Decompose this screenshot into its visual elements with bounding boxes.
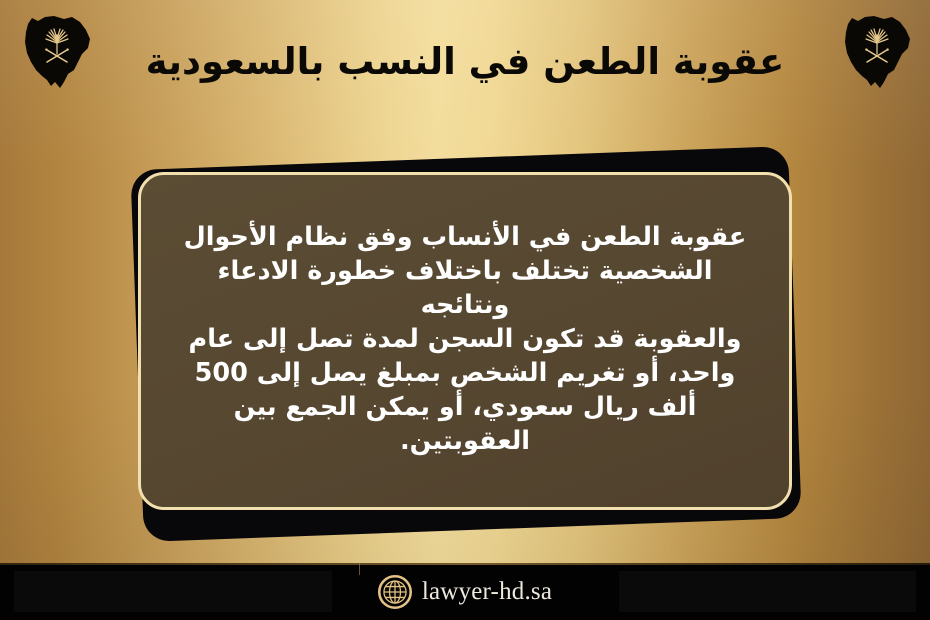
brand-watermark[interactable]: lawyer-hd.sa xyxy=(0,563,930,620)
brand-name-label: lawyer-hd.sa xyxy=(422,579,552,604)
content-card-stack: عقوبة الطعن في الأنساب وفق نظام الأحوال … xyxy=(125,150,805,535)
card-paragraph-1: عقوبة الطعن في الأنساب وفق نظام الأحوال … xyxy=(171,221,759,323)
poster-canvas: عقوبة الطعن في النسب بالسعودية عقوبة الط… xyxy=(0,0,930,620)
page-title: عقوبة الطعن في النسب بالسعودية xyxy=(0,40,930,84)
card-body: عقوبة الطعن في الأنساب وفق نظام الأحوال … xyxy=(171,221,759,458)
card-paragraph-2: والعقوبة قد تكون السجن لمدة تصل إلى عام … xyxy=(171,323,759,459)
content-card: عقوبة الطعن في الأنساب وفق نظام الأحوال … xyxy=(138,172,792,510)
globe-icon xyxy=(378,575,412,609)
poster-footer: lawyer-hd.sa xyxy=(0,563,930,620)
poster-header: عقوبة الطعن في النسب بالسعودية xyxy=(0,0,930,118)
